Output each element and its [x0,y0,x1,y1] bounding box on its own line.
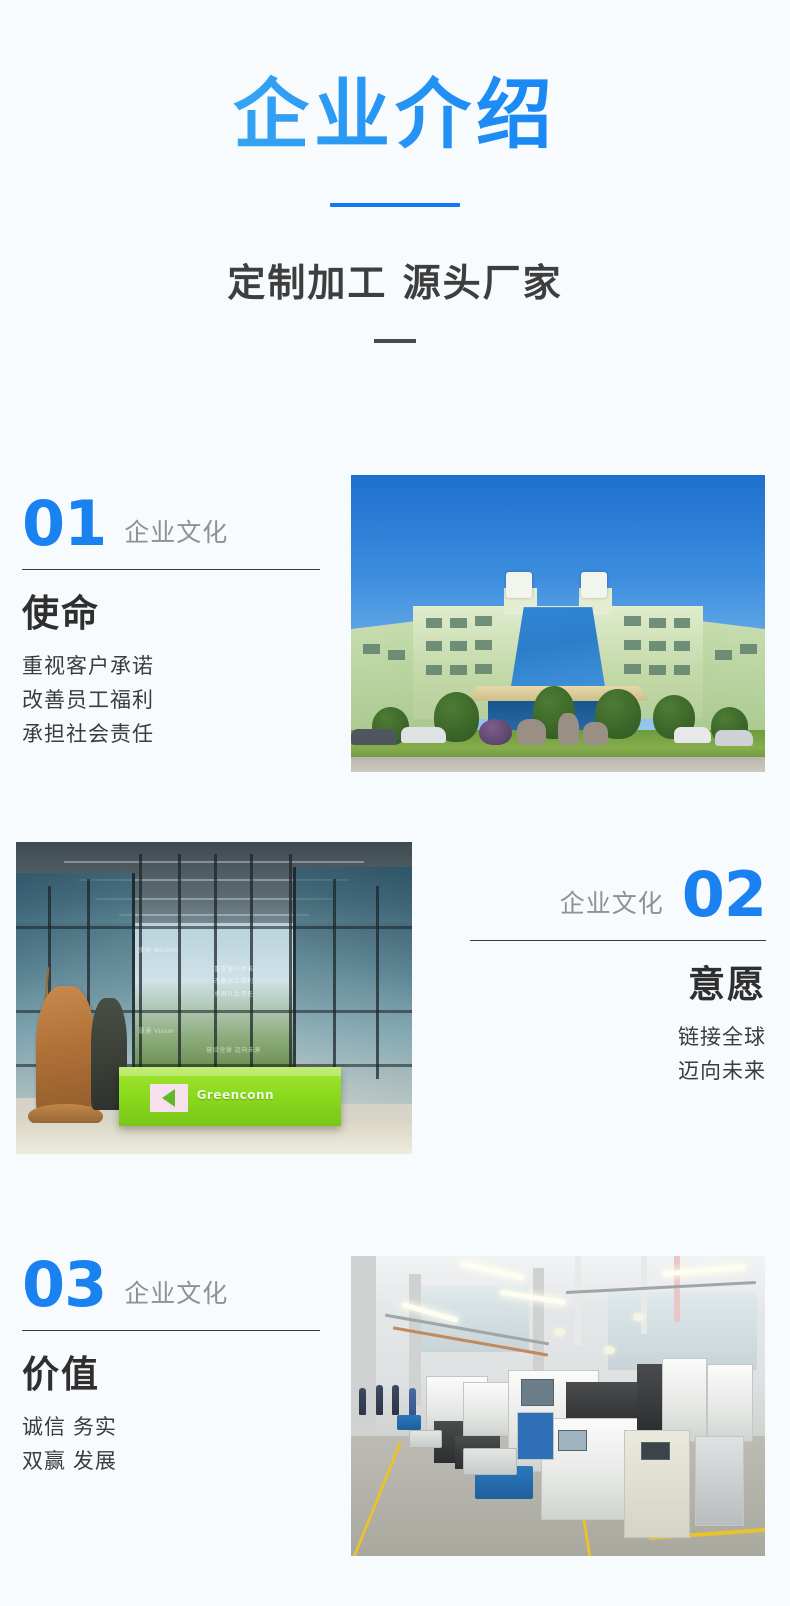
section-02-kicker: 企业文化 [560,891,664,924]
glass-curtain-wall [510,607,605,690]
desk-counter-top [119,1067,341,1076]
section-01-text: 01 企业文化 使命 重视客户承诺 改善员工福利 承担社会责任 [22,495,320,752]
page-subtitle: 定制加工 源头厂家 [0,252,790,307]
section-03-divider [22,1330,320,1331]
section-03-number-row: 03 企业文化 [22,1256,320,1313]
section-03-kicker: 企业文化 [124,1281,228,1314]
section-01-number: 01 [22,495,106,552]
section-02-heading: 意愿 [470,963,766,1007]
photo-injection-molding-workshop [351,1256,765,1556]
page-header: 企业介绍 定制加工 源头厂家 [0,0,790,343]
wooden-guandi-statue [36,986,95,1123]
section-02-line-2: 迈向未来 [470,1055,766,1089]
lobby-floor [16,1123,412,1154]
section-01-kicker: 企业文化 [124,520,228,553]
section-01-lines: 重视客户承诺 改善员工福利 承担社会责任 [22,650,320,752]
section-01-number-row: 01 企业文化 [22,495,320,552]
section-03-heading: 价值 [22,1353,320,1397]
subtitle-dash [374,339,416,343]
section-03-text: 03 企业文化 价值 诚信 务实 双赢 发展 [22,1256,320,1479]
page-title: 企业介绍 [0,72,790,157]
section-02-number-row: 企业文化 02 [470,866,766,923]
section-02-line-1: 链接全球 [470,1021,766,1055]
logo-arrow-icon [162,1089,175,1107]
section-02-lines: 链接全球 迈向未来 [470,1021,766,1089]
greenconn-logo-icon [150,1084,188,1111]
section-03-number: 03 [22,1256,106,1313]
section-02-number: 02 [682,866,766,923]
glass-text-mission: 使命 Mission [139,945,179,954]
rooftop-sign-right [581,572,607,598]
section-03-line-1: 诚信 务实 [22,1411,320,1445]
rooftop-sign-left [506,572,532,598]
section-03-lines: 诚信 务实 双赢 发展 [22,1411,320,1479]
section-01-divider [22,569,320,570]
glass-text-vision: 愿景 Vision [139,1026,174,1035]
reception-desk: Greenconn [119,1067,341,1126]
section-02-text: 企业文化 02 意愿 链接全球 迈向未来 [470,866,766,1089]
section-02-divider [470,940,766,941]
photo-factory-building-exterior [351,475,765,772]
section-01-heading: 使命 [22,592,320,636]
greenconn-brand-text: Greenconn [197,1088,275,1102]
glass-text-line-3: 承担社会责任 [214,989,254,998]
section-01-line-1: 重视客户承诺 [22,650,320,684]
section-03-line-2: 双赢 发展 [22,1445,320,1479]
section-01-line-2: 改善员工福利 [22,684,320,718]
glass-text-slogan: 链接全球 迈向未来 [206,1045,261,1054]
photo-company-lobby-reception: 使命 Mission 重视客户承诺 改善员工福利 承担社会责任 愿景 Visio… [16,842,412,1154]
glass-text-line-2: 改善员工福利 [214,976,254,985]
title-underline [330,203,460,207]
glass-text-line-1: 重视客户承诺 [214,964,254,973]
section-01-line-3: 承担社会责任 [22,718,320,752]
road [351,757,765,772]
